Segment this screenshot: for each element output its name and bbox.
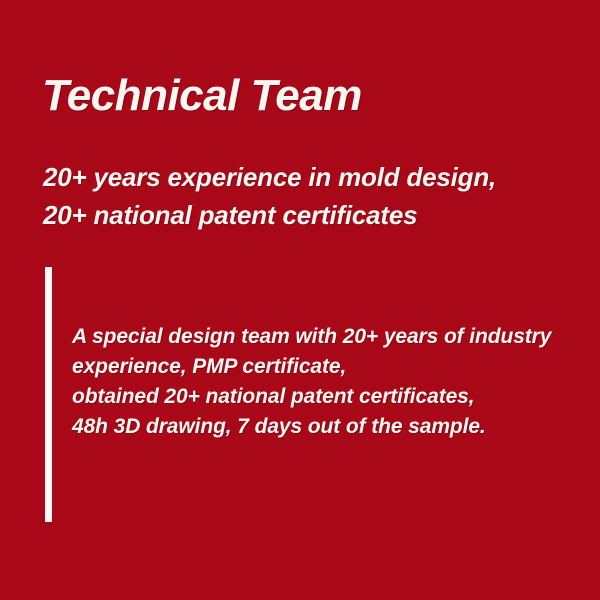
promo-banner: Technical Team 20+ years experience in m… <box>0 0 600 600</box>
body-line-4: 48h 3D drawing, 7 days out of the sample… <box>72 412 582 442</box>
body-line-3: obtained 20+ national patent certificate… <box>72 382 582 412</box>
subtitle-line-1: 20+ years experience in mold design, <box>43 158 496 196</box>
body-line-2: experience, PMP certificate, <box>72 352 582 382</box>
body-line-1: A special design team with 20+ years of … <box>72 322 582 352</box>
page-title: Technical Team <box>42 72 362 120</box>
subtitle-line-2: 20+ national patent certificates <box>43 196 496 234</box>
subtitle-block: 20+ years experience in mold design, 20+… <box>43 158 496 234</box>
body-text-block: A special design team with 20+ years of … <box>72 322 582 442</box>
vertical-accent-bar <box>45 267 52 522</box>
